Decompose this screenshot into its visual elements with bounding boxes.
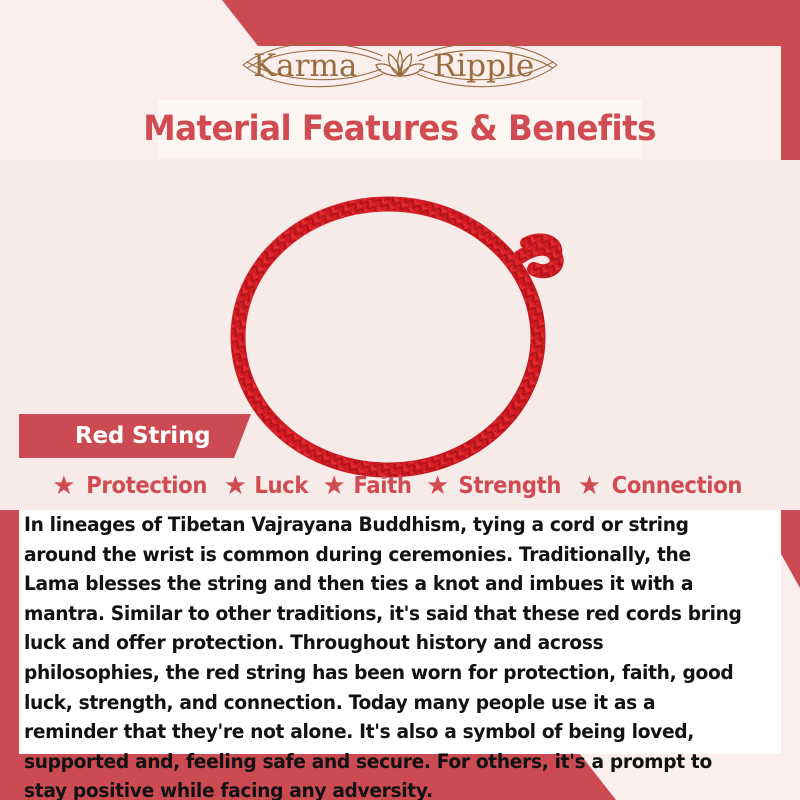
page-title-strip: Material Features & Benefits [158, 100, 642, 158]
feature-item-luck: ★ Luck [219, 473, 316, 499]
brand-name-left: Karma [253, 48, 357, 84]
feature-list: ★ Protection ★ Luck ★ Faith ★ Strength ★… [19, 462, 781, 510]
star-icon: ★ [578, 472, 601, 498]
feature-item-faith: ★ Faith [317, 473, 418, 499]
description-text: In lineages of Tibetan Vajrayana Buddhis… [24, 510, 742, 800]
material-name: Red String [19, 414, 234, 458]
red-string-bracelet-illustration [190, 185, 610, 485]
star-icon: ★ [322, 472, 345, 498]
star-icon: ★ [52, 472, 75, 498]
page-title: Material Features & Benefits [144, 109, 657, 149]
feature-label: Luck [254, 473, 308, 499]
feature-label: Faith [353, 473, 411, 499]
brand-logo: Karma Ripple [0, 34, 800, 96]
feature-label: Strength [459, 473, 562, 499]
lotus-flourish-icon: Karma Ripple [235, 34, 565, 96]
product-infographic-poster: Karma Ripple Material Features & Benefit… [0, 0, 800, 800]
feature-label: Protection [86, 473, 207, 499]
feature-item-strength: ★ Strength [421, 473, 571, 499]
feature-item-protection: ★ Protection [47, 473, 217, 499]
star-icon: ★ [426, 472, 449, 498]
feature-item-connection: ★ Connection [573, 473, 753, 499]
star-icon: ★ [224, 472, 247, 498]
feature-label: Connection [612, 473, 742, 499]
brand-name-right: Ripple [433, 48, 534, 84]
